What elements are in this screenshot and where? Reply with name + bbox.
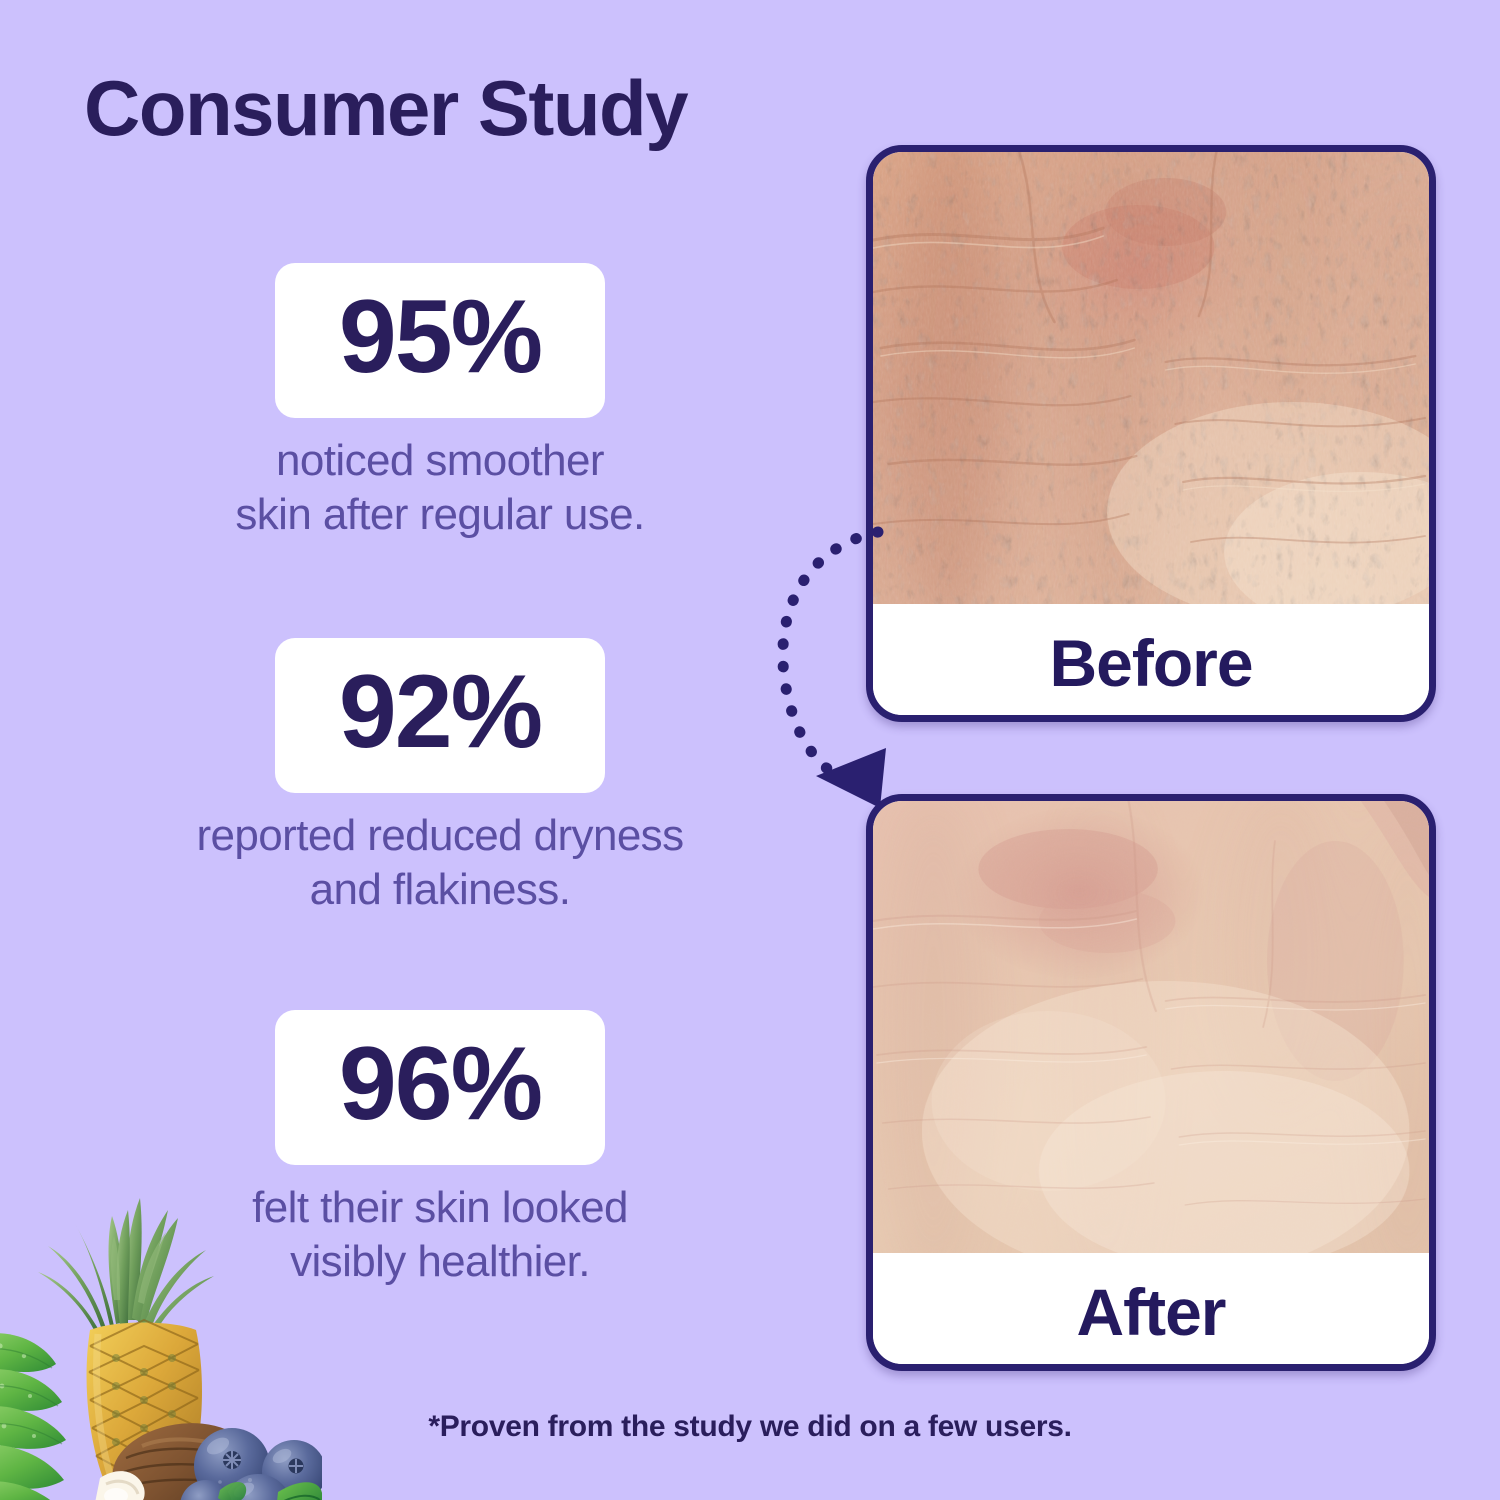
ingredients-decoration	[0, 1150, 322, 1500]
stat-description: reported reduced dryness and flakiness.	[60, 809, 820, 916]
stat-value: 96%	[321, 1018, 559, 1151]
before-label-band: Before	[873, 604, 1429, 722]
footnote: *Proven from the study we did on a few u…	[0, 1410, 1500, 1444]
stat-value-card: 92%	[275, 638, 605, 793]
after-skin-photo	[873, 801, 1429, 1253]
stat-value-card: 95%	[275, 263, 605, 418]
stat-block-92: 92% reported reduced dryness and flakine…	[60, 638, 820, 916]
before-card: Before	[866, 145, 1436, 722]
after-label-band: After	[873, 1253, 1429, 1371]
after-label: After	[1076, 1274, 1225, 1350]
consumer-study-infographic: Consumer Study 95% noticed smoother skin…	[0, 0, 1500, 1500]
stat-value: 95%	[321, 271, 559, 404]
before-label: Before	[1049, 625, 1252, 701]
page-title: Consumer Study	[84, 68, 687, 150]
stat-value: 92%	[321, 646, 559, 779]
curved-dotted-arrow-icon	[752, 518, 922, 808]
stat-block-95: 95% noticed smoother skin after regular …	[60, 263, 820, 541]
stat-value-card: 96%	[275, 1010, 605, 1165]
stat-description: noticed smoother skin after regular use.	[60, 434, 820, 541]
before-skin-photo	[873, 152, 1429, 604]
after-card: After	[866, 794, 1436, 1371]
